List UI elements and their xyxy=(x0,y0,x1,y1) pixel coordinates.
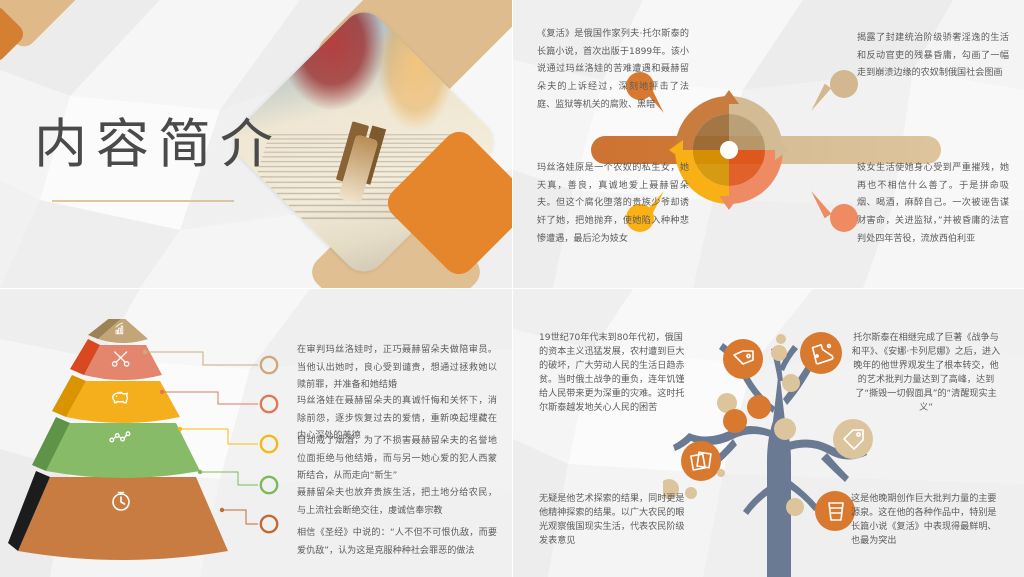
leaf-med-2 xyxy=(723,409,747,433)
pyramid-ring-3 xyxy=(261,436,277,452)
slide-deck: 内容简介 xyxy=(0,0,1024,577)
center-hub xyxy=(720,141,738,159)
leaf-small-3 xyxy=(776,334,786,344)
pyramid-text-3: 自动戒了烟酒，为了不损害聂赫留朵夫的名誉地位面拒绝与他结婚，而与另一她心爱的犯人… xyxy=(297,433,497,486)
circle-text-top-right: 揭露了封建统治阶级骄奢淫逸的生活和反动官吏的残暴昏庸，勾画了一幅走到崩溃边缘的农… xyxy=(857,30,1009,83)
tree-text-bottom-left: 无疑是他艺术探索的结果，同时更是他精神探索的结果。以广大农民的眼光观察俄国现实生… xyxy=(539,492,685,548)
fruit-label xyxy=(833,419,873,459)
connector-dot-4 xyxy=(198,470,202,474)
leaf-small-8 xyxy=(717,469,725,477)
pin-marker-top-right xyxy=(830,70,858,98)
leaf-small-5 xyxy=(774,418,796,440)
connector-dot-1 xyxy=(143,350,147,354)
tree-text-top-left: 19世纪70年代末到80年代初，俄国的资本主义迅猛发展，农村遭到巨大的破坏，广大… xyxy=(539,331,685,416)
page-title: 内容简介 xyxy=(34,102,282,178)
title-underline xyxy=(52,200,234,202)
tree-text-top-right: 托尔斯泰在相继完成了巨著《战争与和平》、《安娜·卡列尼娜》之后，进入晚年的他世界… xyxy=(851,331,1001,416)
circle-text-bottom-left: 玛丝洛娃原是一个农奴的私生女，她天真，善良，真诚地爱上聂赫留朵夫。但这个腐化堕落… xyxy=(537,160,689,249)
connector-dot-3 xyxy=(178,427,182,431)
circle-text-top-left: 《复活》是俄国作家列夫·托尔斯泰的长篇小说，首次出版于1899年。该小说通过玛丝… xyxy=(537,26,689,115)
slide-title-cover: 内容简介 xyxy=(0,0,512,288)
fruit-papers xyxy=(681,441,721,481)
fruit-tag xyxy=(723,339,763,379)
pyramid-ring-1 xyxy=(261,357,277,373)
slide-tree-diagram: 19世纪70年代末到80年代初，俄国的资本主义迅猛发展，农村遭到巨大的破坏，广大… xyxy=(513,289,1024,577)
fruit-cup xyxy=(815,491,855,531)
circle-text-bottom-right: 妓女生活使她身心受到严重摧残，她再也不相信什么善了。于是拼命吸烟、喝酒，麻醉自己… xyxy=(857,160,1009,249)
pyramid-text-1: 在审判玛丝洛娃时，正巧聂赫留朵夫做陪审员。当他认出她时，良心受到谴责，想通过拯救… xyxy=(297,342,497,395)
leaf-med-1 xyxy=(747,395,771,419)
pin-marker-bottom-right xyxy=(830,204,858,232)
tree-text-bottom-right: 这是他晚期创作巨大批判力量的主要源泉。这在他的各种作品中，特别是长篇小说《复活》… xyxy=(851,492,1001,548)
connector-dot-2 xyxy=(160,390,164,394)
pyramid-ring-5 xyxy=(261,516,277,532)
leaf-small-1 xyxy=(771,345,787,361)
slide-pyramid: 在审判玛丝洛娃时，正巧聂赫留朵夫做陪审员。当他认出她时，良心受到谴责，想通过拯救… xyxy=(0,289,512,577)
leaf-small-7 xyxy=(685,487,697,499)
pyramid-ring-2 xyxy=(261,396,277,412)
pyramid-text-4: 聂赫留朵夫也放弃贵族生活，把土地分给农民，与上流社会断绝交往，虔诚信奉宗教 xyxy=(297,485,497,520)
leaf-small-2 xyxy=(782,374,800,392)
slide-circle-diagram: 《复活》是俄国作家列夫·托尔斯泰的长篇小说，首次出版于1899年。该小说通过玛丝… xyxy=(513,0,1024,288)
leaf-small-9 xyxy=(786,498,804,516)
fruit-flask xyxy=(800,332,842,374)
connector-dot-5 xyxy=(220,508,224,512)
pyramid-text-5: 相信《圣经》中说的：“人不但不可恨仇敌，而要爱仇敌”，认为这是克服种种社会罪恶的… xyxy=(297,525,497,560)
pyramid-ring-4 xyxy=(261,477,277,493)
